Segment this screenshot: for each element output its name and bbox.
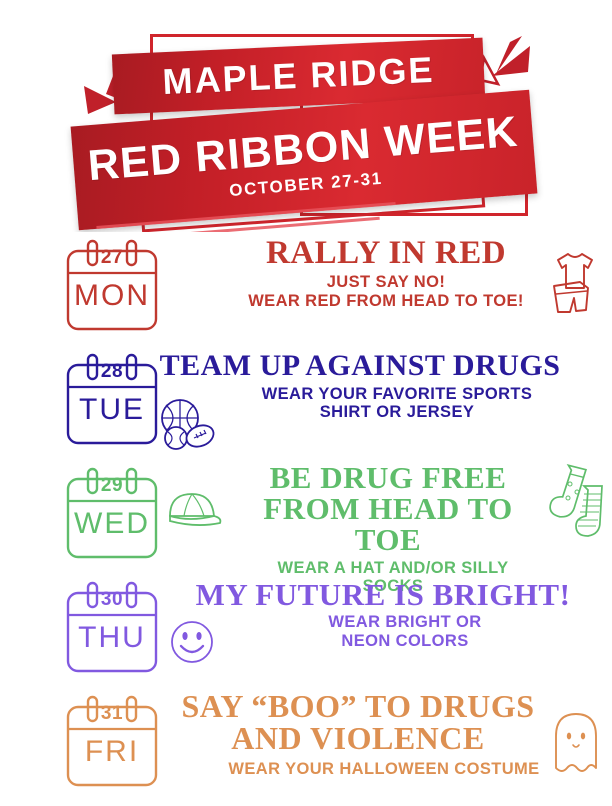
day-headline-friday: SAY “BOO” TO DRUGS AND VIOLENCE [168, 690, 604, 754]
day-row-thursday: 30 THU MY FUTURE IS BRIGHT! WEAR BRIGHT … [0, 574, 612, 688]
tshirt-shorts-icon [544, 244, 606, 316]
day-headline-monday: RALLY IN RED [168, 238, 604, 269]
sports-balls-icon [156, 396, 218, 454]
day-sub-line1-thursday: WEAR BRIGHT OR [206, 613, 604, 631]
calendar-weekday-thursday: THU [62, 621, 162, 655]
day-row-friday: 31 FRI SAY “BOO” TO DRUGS AND VIOLENCE W… [0, 688, 612, 806]
day-headline-wednesday: BE DRUG FREE FROM HEAD TO TOE [168, 462, 604, 555]
ghost-icon [548, 710, 604, 776]
calendar-icon-thursday: 30 THU [62, 581, 162, 677]
day-sub-line1-friday: WEAR YOUR HALLOWEEN COSTUME [164, 760, 604, 778]
calendar-weekday-friday: FRI [62, 735, 162, 769]
day-sub-line2-monday: WEAR RED FROM HEAD TO TOE! [168, 292, 604, 310]
calendar-icon-wednesday: 29 WED [62, 467, 162, 563]
day-sub-line2-tuesday: SHIRT OR JERSEY [190, 403, 604, 421]
poster-header: MAPLE RIDGE RED RIBBON WEEK OCTOBER 27-3… [0, 0, 612, 232]
day-list: 27 MON RALLY IN RED JUST SAY NO! WEAR RE… [0, 232, 612, 806]
baseball-cap-icon [164, 488, 226, 530]
day-sub-line1-monday: JUST SAY NO! [168, 273, 604, 291]
day-row-monday: 27 MON RALLY IN RED JUST SAY NO! WEAR RE… [0, 232, 612, 346]
day-content-friday: SAY “BOO” TO DRUGS AND VIOLENCE WEAR YOU… [162, 688, 612, 778]
day-sub-line2-thursday: NEON COLORS [206, 632, 604, 650]
calendar-weekday-wednesday: WED [62, 507, 162, 541]
calendar-date-thursday: 30 [62, 589, 162, 611]
calendar-icon-friday: 31 FRI [62, 695, 162, 791]
day-row-wednesday: 29 WED BE DRUG FREE FROM HEAD TO TOE WEA… [0, 460, 612, 574]
day-sub-line1-tuesday: WEAR YOUR FAVORITE SPORTS [190, 385, 604, 403]
calendar-date-monday: 27 [62, 247, 162, 269]
day-headline-tuesday: TEAM UP AGAINST DRUGS [116, 352, 604, 381]
calendar-icon-monday: 27 MON [62, 239, 162, 335]
silly-socks-icon [544, 460, 610, 544]
day-row-tuesday: 28 TUE TEAM UP AGAINST DRUGS WEAR YOUR F… [0, 346, 612, 460]
day-content-monday: RALLY IN RED JUST SAY NO! WEAR RED FROM … [162, 232, 612, 310]
calendar-weekday-tuesday: TUE [62, 393, 162, 427]
page-title: MAPLE RIDGE [112, 50, 484, 103]
day-content-tuesday: TEAM UP AGAINST DRUGS WEAR YOUR FAVORITE… [162, 346, 612, 421]
smiley-face-icon [168, 618, 216, 666]
calendar-date-wednesday: 29 [62, 475, 162, 497]
day-headline-thursday: MY FUTURE IS BRIGHT! [162, 580, 604, 609]
calendar-weekday-monday: MON [62, 279, 162, 313]
calendar-date-friday: 31 [62, 703, 162, 725]
day-content-thursday: MY FUTURE IS BRIGHT! WEAR BRIGHT OR NEON… [162, 574, 612, 650]
